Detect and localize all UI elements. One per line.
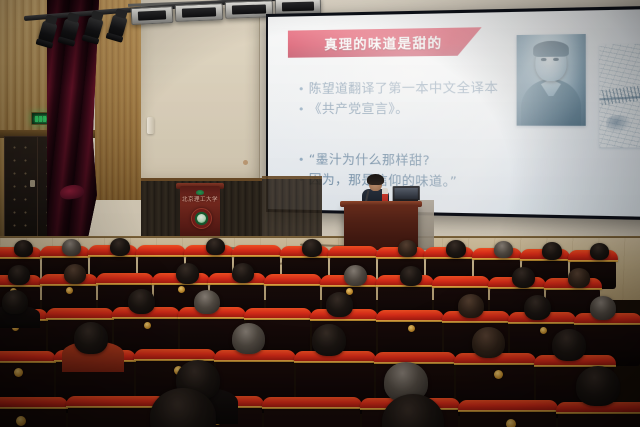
slide-bullet: “墨汁为什么那样甜? xyxy=(298,149,541,171)
wall-speaker-box xyxy=(147,117,154,134)
audience-head xyxy=(344,265,367,286)
acoustic-door-left[interactable] xyxy=(4,136,38,242)
audience-head xyxy=(302,239,322,257)
portrait-eye xyxy=(553,58,559,61)
audience-head xyxy=(232,263,254,283)
wall-seam-right xyxy=(259,0,260,180)
audience-head xyxy=(62,239,81,256)
portrait-eye xyxy=(541,58,547,61)
seat[interactable] xyxy=(558,407,640,427)
audience-head xyxy=(176,263,199,284)
audience-head xyxy=(398,240,417,257)
audience-head xyxy=(458,294,484,318)
seat-medallion xyxy=(494,370,503,379)
slide-title-text: 真理的味道是甜的 xyxy=(324,32,442,53)
speaker-hair xyxy=(367,174,384,185)
audience-head xyxy=(590,296,616,320)
audience-head xyxy=(542,242,562,260)
projection-screen-frame: 真理的味道是甜的 陈望道翻译了第一本中文全译本 《共产党宣言》。 “墨汁为什么那… xyxy=(266,5,640,220)
audience-head xyxy=(494,241,513,258)
audience-head xyxy=(472,327,505,358)
seat-medallion xyxy=(506,419,516,427)
audience-head xyxy=(8,265,30,285)
seat-medallion xyxy=(178,286,185,293)
auditorium-photo: 真理的味道是甜的 陈望道翻译了第一本中文全译本 《共产党宣言》。 “墨汁为什么那… xyxy=(0,0,640,427)
ceiling-panel-light xyxy=(175,3,224,22)
slide-title-banner: 真理的味道是甜的 xyxy=(288,27,482,57)
audience-head xyxy=(232,323,265,354)
laptop-screen xyxy=(395,188,418,199)
audience-head xyxy=(2,290,28,314)
wall-recessed-panel xyxy=(140,8,260,178)
audience-head xyxy=(524,295,551,320)
audience-head xyxy=(446,240,466,258)
audience-head xyxy=(326,292,353,317)
seat[interactable] xyxy=(264,402,360,427)
audience-head xyxy=(128,289,155,314)
audience-head xyxy=(590,243,609,260)
audience-head xyxy=(552,329,586,361)
acoustic-wall-panel-right xyxy=(262,176,322,237)
door-handle-icon[interactable] xyxy=(30,180,35,187)
slide-bullet: 《共产党宣言》。 xyxy=(298,99,541,120)
wall-fixture-dot xyxy=(243,160,248,165)
seat[interactable] xyxy=(0,402,66,427)
projection-screen: 真理的味道是甜的 陈望道翻译了第一本中文全译本 《共产党宣言》。 “墨汁为什么那… xyxy=(268,9,640,218)
university-emblem-icon xyxy=(191,208,212,229)
seat-medallion xyxy=(14,368,23,377)
audience-head xyxy=(194,290,220,314)
audience-head xyxy=(14,240,33,257)
portrait-hair xyxy=(533,41,569,57)
seat-medallion xyxy=(144,322,151,329)
slide-portrait-photo xyxy=(517,34,586,126)
podium-university-name: 北京理工大学 xyxy=(180,195,220,203)
audience-head xyxy=(206,238,225,255)
seat-medallion xyxy=(408,325,415,332)
slide-bullets-upper: 陈望道翻译了第一本中文全译本 《共产党宣言》。 xyxy=(298,77,541,120)
seat-medallion xyxy=(16,416,26,426)
audience-head xyxy=(568,268,590,288)
audience-head xyxy=(512,267,535,288)
audience-head xyxy=(576,366,620,406)
seat-medallion xyxy=(540,327,547,334)
ceiling-panel-light xyxy=(131,6,174,25)
audience-head xyxy=(110,238,130,256)
slide-line-art-illustration xyxy=(599,43,640,148)
audience-head xyxy=(64,264,86,284)
audience-seating xyxy=(0,238,640,427)
audience-head xyxy=(312,324,346,356)
slide-bullet: 陈望道翻译了第一本中文全译本 xyxy=(298,77,541,98)
audience-head xyxy=(74,322,108,354)
audience-head xyxy=(400,266,422,286)
seat-medallion xyxy=(66,287,73,294)
illustration-figure xyxy=(606,115,631,132)
